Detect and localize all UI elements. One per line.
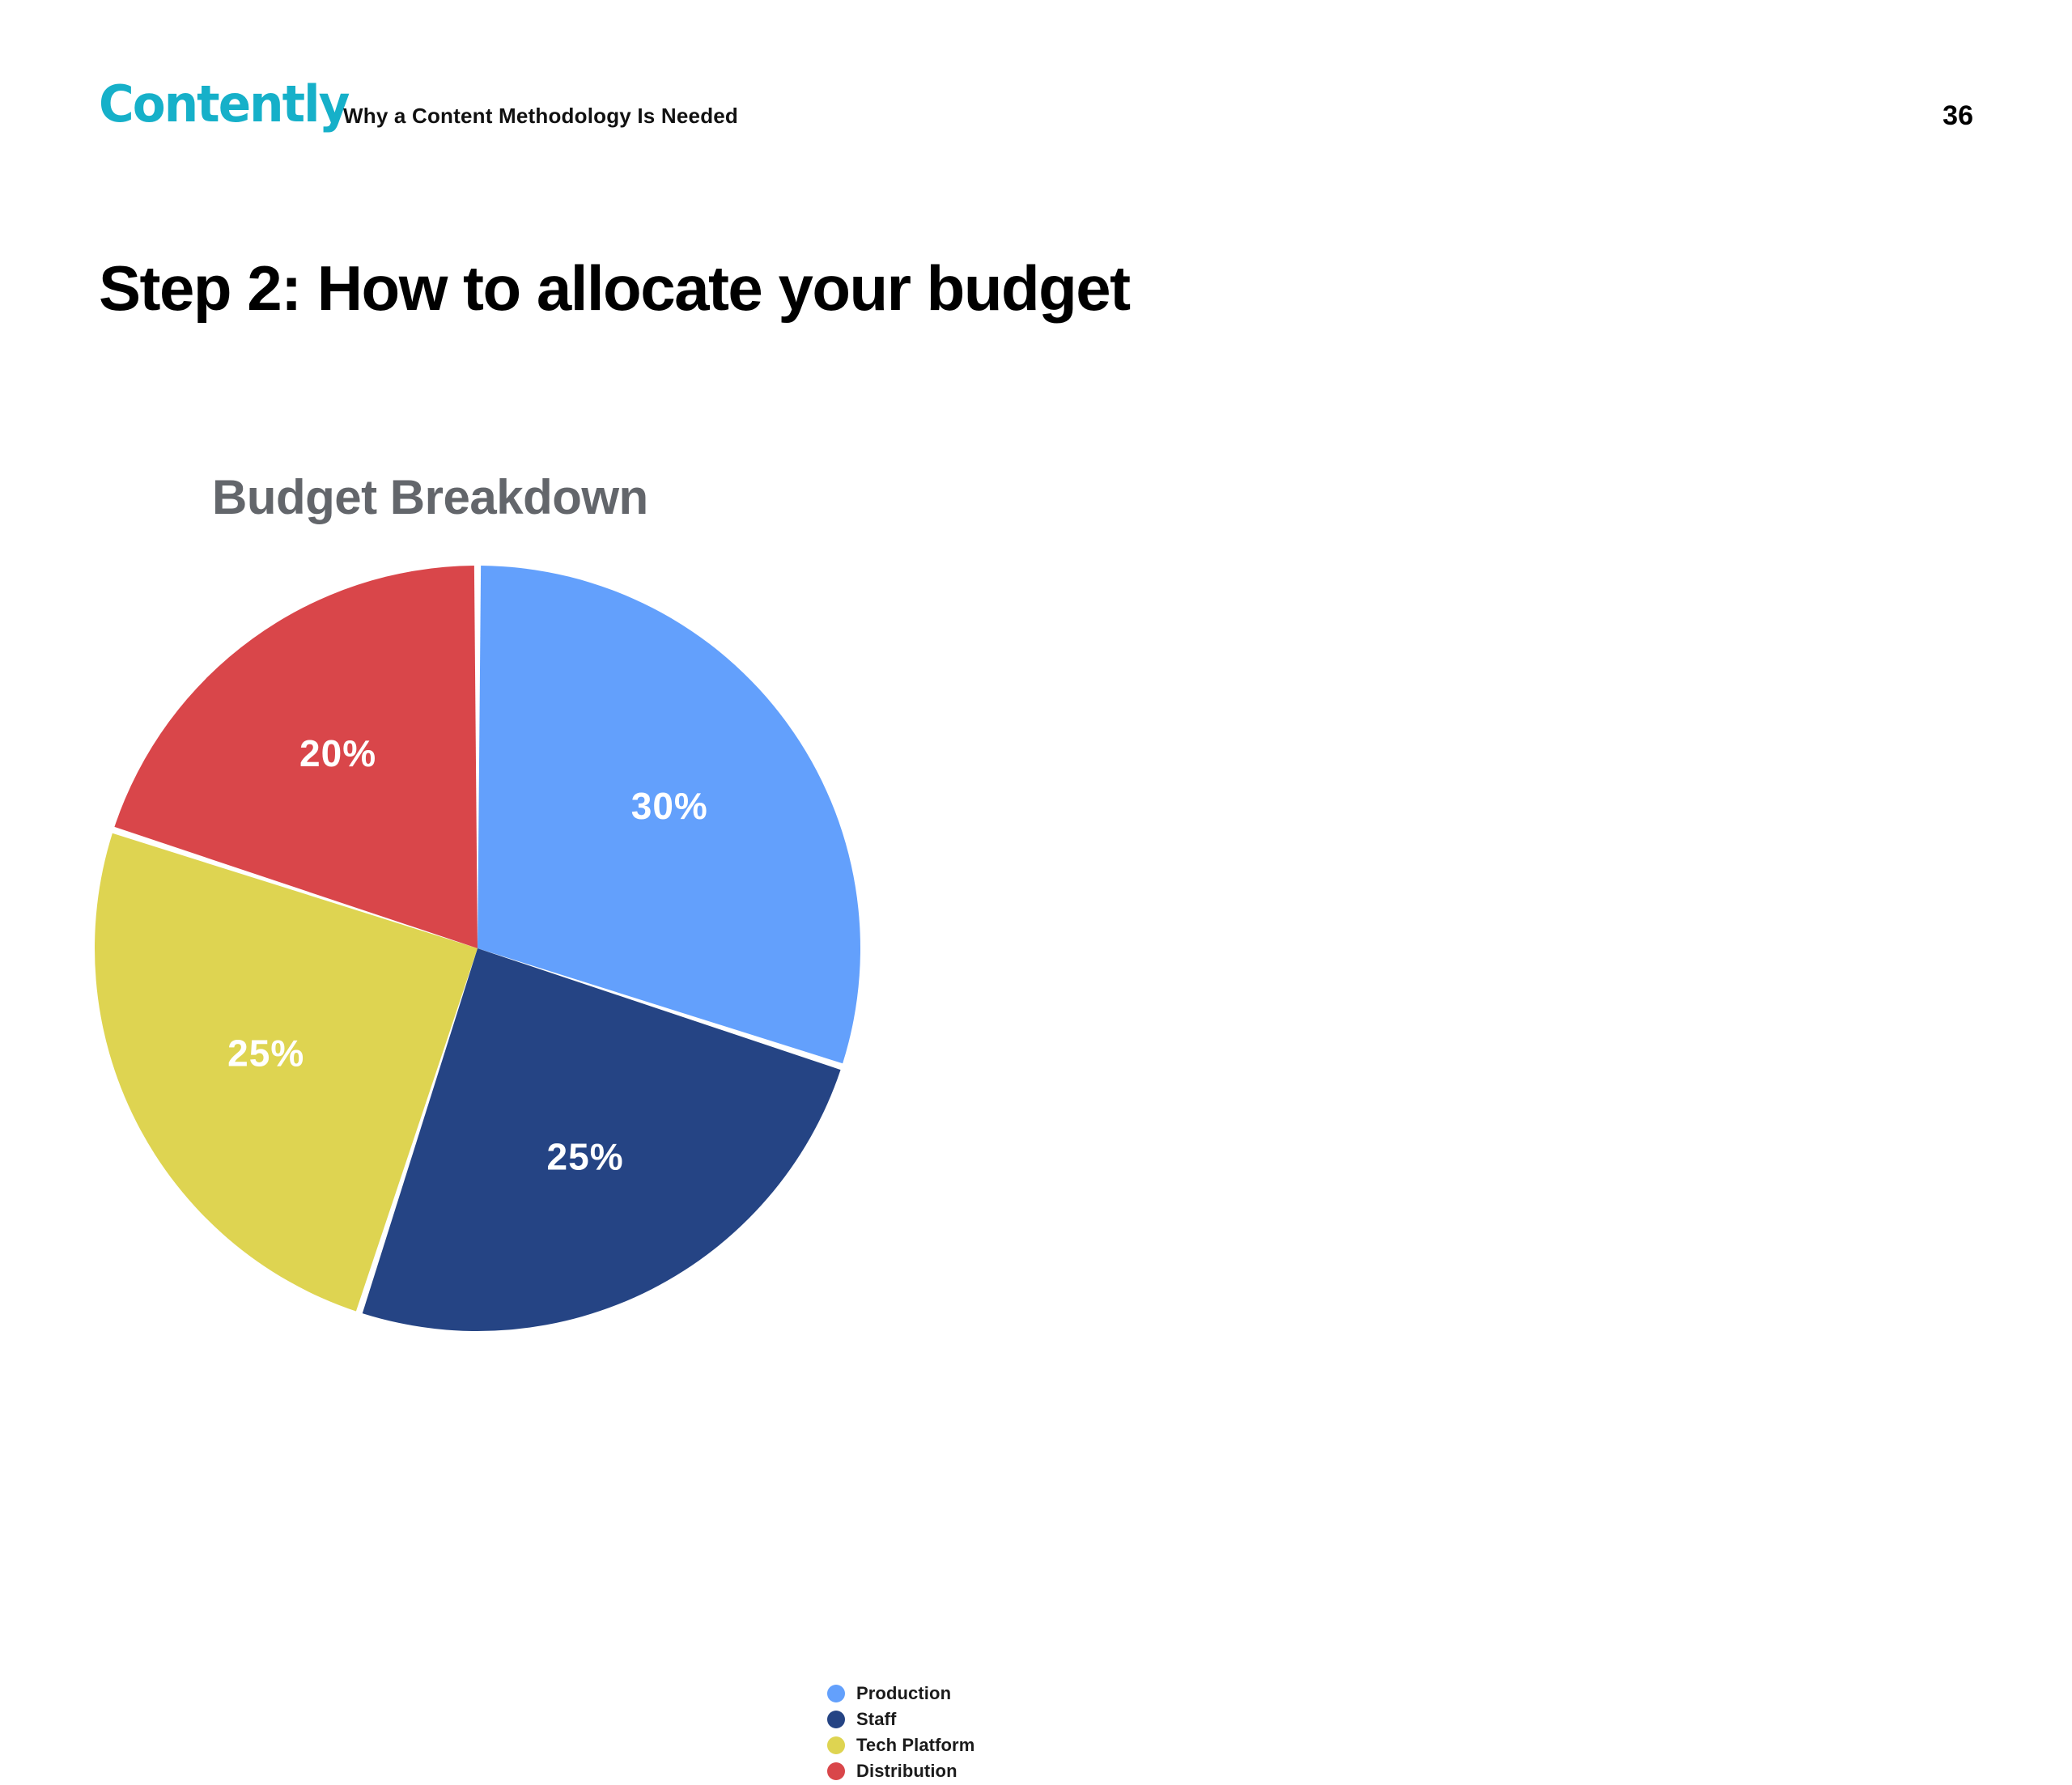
slide-header: Contently Why a Content Methodology Is N… [0, 0, 2072, 170]
legend-swatch-production [827, 1685, 845, 1702]
legend-swatch-distribution [827, 1762, 845, 1780]
pie-slice-group [95, 566, 860, 1331]
header-subtitle: Why a Content Methodology Is Needed [343, 105, 738, 126]
pie-slice-value-tech-platform: 25% [227, 1032, 304, 1074]
pie-slice-value-production: 30% [631, 785, 708, 827]
legend-item-distribution[interactable]: Distribution [827, 1759, 1102, 1783]
legend-swatch-tech-platform [827, 1736, 845, 1754]
slide-canvas: Contently Why a Content Methodology Is N… [0, 0, 2072, 1554]
chart-legend: ProductionStaffTech PlatformDistribution [827, 1681, 1102, 1785]
legend-item-staff[interactable]: Staff [827, 1707, 1102, 1732]
pie-slice-value-distribution: 20% [299, 732, 376, 774]
budget-breakdown-chart: Budget Breakdown 30%25%25%20% Production… [0, 453, 1133, 1408]
contently-logo: Contently [99, 79, 349, 129]
legend-label-tech-platform: Tech Platform [856, 1736, 974, 1754]
legend-label-production: Production [856, 1685, 951, 1702]
legend-label-staff: Staff [856, 1711, 896, 1728]
page-title: Step 2: How to allocate your budget [99, 254, 1130, 322]
legend-label-distribution: Distribution [856, 1762, 957, 1780]
pie-slice-value-staff: 25% [547, 1135, 624, 1177]
page-number: 36 [1942, 102, 1973, 129]
legend-item-production[interactable]: Production [827, 1681, 1102, 1706]
legend-swatch-staff [827, 1711, 845, 1728]
pie-chart-svg: 30%25%25%20% [0, 453, 1133, 1408]
legend-item-tech-platform[interactable]: Tech Platform [827, 1733, 1102, 1757]
pie-chart: 30%25%25%20% [0, 453, 1133, 1408]
